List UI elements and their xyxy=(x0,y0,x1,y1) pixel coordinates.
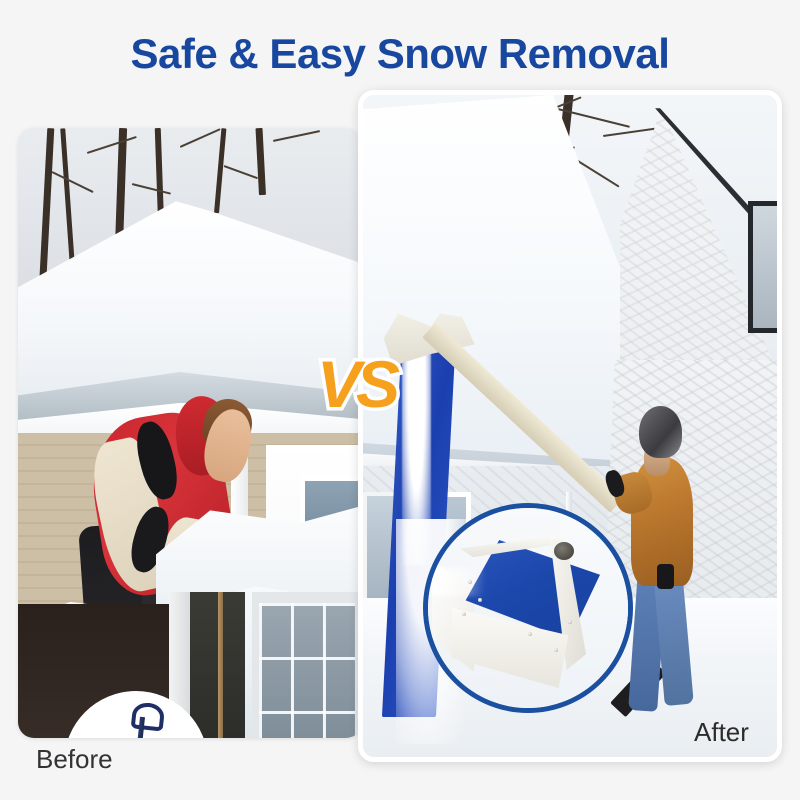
page-title: Safe & Easy Snow Removal xyxy=(0,28,800,80)
metal-glare xyxy=(432,568,484,596)
upper-window xyxy=(748,201,777,333)
before-image-panel xyxy=(18,128,362,738)
before-photo xyxy=(18,128,362,738)
product-infographic: Safe & Easy Snow Removal xyxy=(0,0,800,800)
wooden-pole xyxy=(218,592,224,738)
rivet-icon xyxy=(568,620,572,624)
window-grid xyxy=(259,603,356,738)
rivet-icon xyxy=(528,632,532,636)
window-sash-panel xyxy=(252,592,362,738)
person-fur-hat xyxy=(639,406,682,458)
shovel-grip-icon xyxy=(130,701,165,731)
rivet-icon xyxy=(478,598,482,602)
rivet-icon xyxy=(468,580,472,584)
after-product-inset xyxy=(423,503,633,713)
rivet-icon xyxy=(554,648,558,652)
after-label: After xyxy=(694,715,749,749)
rivet-icon xyxy=(462,612,466,616)
person-leg-right xyxy=(653,570,694,706)
before-label: Before xyxy=(36,742,113,776)
rake-pole-socket xyxy=(554,542,574,560)
versus-badge: VS xyxy=(310,338,402,430)
person-glove xyxy=(657,564,674,588)
